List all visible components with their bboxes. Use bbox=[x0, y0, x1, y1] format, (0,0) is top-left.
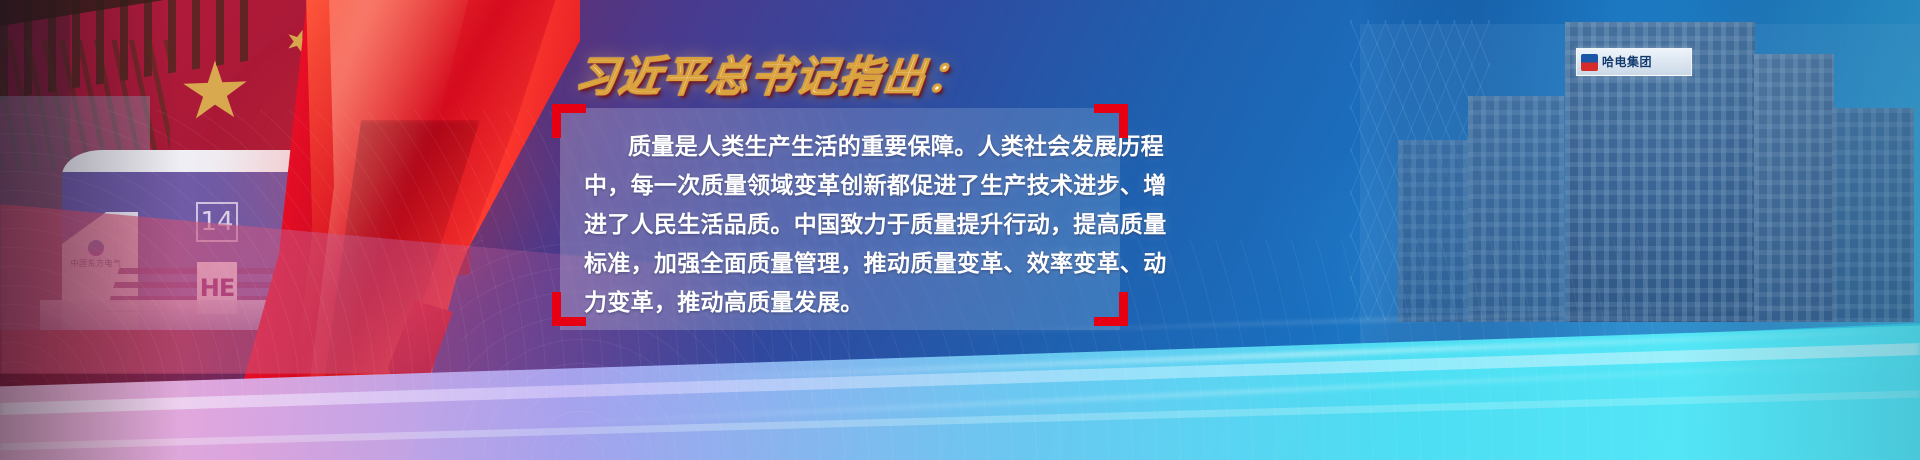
corner-bracket-top-left bbox=[552, 104, 586, 138]
corner-bracket-top-right bbox=[1094, 104, 1128, 138]
quote-text: 质量是人类生产生活的重要保障。人类社会发展历程 中，每一次质量领域变革创新都促进… bbox=[584, 128, 1129, 323]
quote-line-3: 进了人民生活品质。中国致力于质量提升行动，提高质量 bbox=[584, 206, 1129, 245]
quote-line-5: 力变革，推动高质量发展。 bbox=[584, 284, 1129, 323]
building-sign-label: 哈电集团 bbox=[1602, 56, 1652, 68]
window-grid bbox=[1832, 108, 1914, 322]
propaganda-banner: 哈电集团 14 HE 哈电集团 中国东方电气 中国三峡 bbox=[0, 0, 1920, 460]
building-far-right bbox=[1832, 108, 1914, 322]
quote-line-2: 中，每一次质量领域变革创新都促进了生产技术进步、增 bbox=[584, 167, 1129, 206]
quote-line-1: 质量是人类生产生活的重要保障。人类社会发展历程 bbox=[584, 128, 1129, 167]
corner-bracket-bottom-right bbox=[1094, 292, 1128, 326]
building-annex bbox=[1754, 54, 1834, 322]
building-sign: 哈电集团 bbox=[1576, 48, 1692, 76]
company-logo-icon bbox=[1581, 54, 1598, 71]
corner-bracket-bottom-left bbox=[552, 292, 586, 326]
window-grid bbox=[1754, 54, 1834, 322]
quote-line-4: 标准，加强全面质量管理，推动质量变革、效率变革、动 bbox=[584, 245, 1129, 284]
banner-title: 习近平总书记指出： bbox=[572, 56, 973, 98]
